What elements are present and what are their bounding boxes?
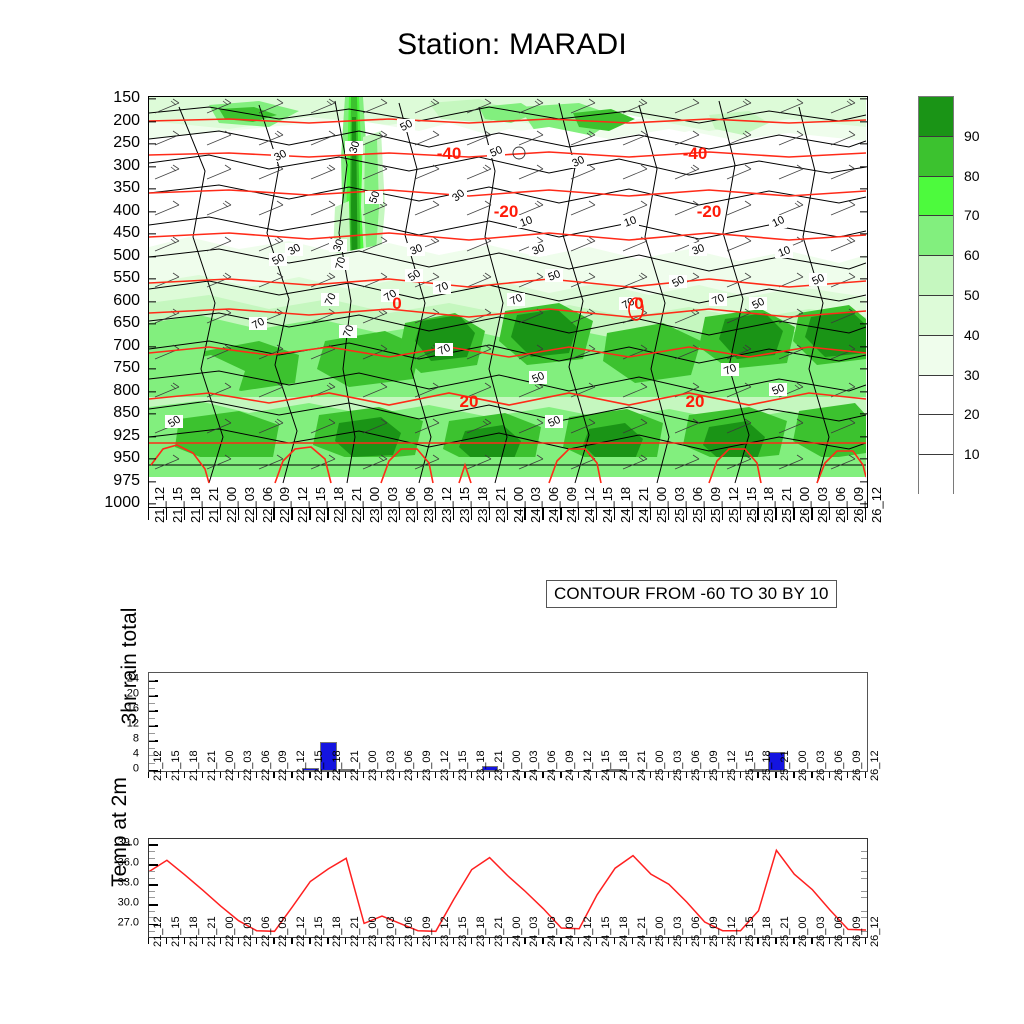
- pressure-tick-mark: [149, 481, 156, 482]
- rain-minor-tick: [149, 710, 155, 711]
- time-tick-label: 22_18: [332, 750, 343, 781]
- time-tick-label: 23_18: [476, 487, 489, 523]
- time-tick-label: 21_18: [189, 750, 200, 781]
- time-tick-label: 23_12: [440, 916, 451, 947]
- time-tick-mark: [793, 938, 794, 944]
- pressure-tick-mark: [860, 278, 867, 279]
- time-tick-label: 25_21: [780, 916, 791, 947]
- time-tick-label: 22_21: [350, 916, 361, 947]
- time-tick-mark: [722, 772, 723, 778]
- svg-text:20: 20: [686, 392, 705, 411]
- time-tick-mark: [865, 508, 866, 520]
- pressure-tick-mark: [149, 368, 156, 369]
- rain-minor-tick: [149, 680, 155, 681]
- time-tick-label: 25_06: [691, 916, 702, 947]
- time-tick-mark: [453, 508, 454, 520]
- time-tick-label: 24_21: [637, 750, 648, 781]
- time-tick-mark: [542, 938, 543, 944]
- time-tick-mark: [327, 938, 328, 944]
- time-tick-label: 25_00: [655, 916, 666, 947]
- pressure-tick-mark: [149, 143, 156, 144]
- time-tick-label: 21_21: [207, 750, 218, 781]
- time-tick-mark: [363, 772, 364, 778]
- pressure-tick-mark: [149, 278, 156, 279]
- pressure-tick-label: 925: [70, 428, 140, 444]
- colorbar[interactable]: [918, 96, 954, 494]
- time-tick-mark: [417, 508, 418, 520]
- colorbar-band[interactable]: [919, 336, 953, 376]
- pressure-tick-mark: [149, 121, 156, 122]
- time-tick-label: 26_03: [816, 750, 827, 781]
- time-tick-mark: [775, 938, 776, 944]
- time-tick-mark: [560, 938, 561, 944]
- time-tick-mark: [327, 508, 328, 520]
- time-tick-mark: [238, 938, 239, 944]
- time-tick-mark: [614, 772, 615, 778]
- colorbar-tick-label: 30: [964, 367, 980, 383]
- time-tick-mark: [471, 508, 472, 520]
- time-tick-mark: [524, 938, 525, 944]
- time-tick-label: 22_06: [261, 916, 272, 947]
- colorbar-tick-label: 20: [964, 406, 980, 422]
- colorbar-band[interactable]: [919, 296, 953, 336]
- time-tick-label: 25_00: [655, 750, 666, 781]
- time-tick-mark: [238, 508, 239, 520]
- time-tick-label: 25_15: [745, 750, 756, 781]
- time-tick-mark: [399, 508, 400, 520]
- time-tick-label: 24_09: [565, 916, 576, 947]
- temp-panel: Temp at 2m 21_1221_1521_1821_2122_0022_0…: [148, 838, 868, 938]
- time-tick-mark: [417, 938, 418, 944]
- time-tick-label: 26_03: [816, 487, 829, 523]
- time-tick-mark: [811, 938, 812, 944]
- time-tick-label: 22_03: [243, 750, 254, 781]
- temp-minor-tick: [149, 878, 155, 879]
- time-tick-label: 23_12: [440, 750, 451, 781]
- time-tick-label: 22_15: [314, 750, 325, 781]
- time-tick-label: 25_12: [727, 750, 738, 781]
- time-tick-mark: [793, 508, 794, 520]
- time-tick-label: 24_06: [547, 487, 560, 523]
- time-tick-mark: [614, 938, 615, 944]
- time-tick-label: 24_00: [512, 750, 523, 781]
- temp-tick-label: 33.0: [93, 878, 139, 889]
- time-tick-mark: [829, 772, 830, 778]
- time-tick-label: 24_09: [565, 487, 578, 523]
- temp-minor-tick: [149, 897, 155, 898]
- temp-minor-tick: [861, 878, 867, 879]
- time-tick-label: 24_03: [529, 487, 542, 523]
- time-tick-mark: [202, 508, 203, 520]
- svg-text:-20: -20: [494, 202, 519, 221]
- time-tick-label: 24_00: [512, 487, 525, 523]
- time-tick-mark: [811, 772, 812, 778]
- rain-minor-tick: [149, 703, 155, 704]
- time-tick-mark: [740, 772, 741, 778]
- pressure-tick-mark: [149, 256, 156, 257]
- time-tick-label: 24_09: [565, 750, 576, 781]
- time-tick-label: 26_12: [870, 487, 883, 523]
- pressure-tick-label: 550: [70, 270, 140, 286]
- cross-section-plot-area[interactable]: 30 30 50 50 50 30 30 10 10 10 30 30 30 3…: [148, 96, 868, 508]
- contour-legend-note: CONTOUR FROM -60 TO 30 BY 10: [546, 580, 837, 608]
- time-tick-label: 26_06: [834, 916, 845, 947]
- temp-minor-tick: [149, 911, 155, 912]
- time-tick-label: 23_18: [476, 916, 487, 947]
- temp-minor-tick: [861, 891, 867, 892]
- time-tick-mark: [309, 772, 310, 778]
- pressure-tick-label: 500: [70, 248, 140, 264]
- temp-tick-label: 36.0: [93, 858, 139, 869]
- time-tick-mark: [507, 938, 508, 944]
- time-tick-mark: [489, 508, 490, 520]
- time-tick-mark: [632, 508, 633, 520]
- pressure-tick-label: 150: [70, 90, 140, 106]
- time-tick-label: 23_03: [386, 487, 399, 523]
- time-tick-mark: [399, 938, 400, 944]
- time-tick-label: 21_21: [207, 916, 218, 947]
- time-tick-mark: [184, 772, 185, 778]
- time-tick-label: 22_03: [243, 487, 256, 523]
- time-tick-mark: [220, 508, 221, 520]
- time-tick-label: 26_12: [870, 916, 881, 947]
- time-tick-mark: [273, 772, 274, 778]
- temp-tick-label: 27.0: [93, 918, 139, 929]
- pressure-tick-mark: [860, 458, 867, 459]
- time-tick-mark: [524, 772, 525, 778]
- pressure-tick-label: 450: [70, 225, 140, 241]
- time-tick-mark: [220, 772, 221, 778]
- pressure-tick-label: 600: [70, 293, 140, 309]
- time-tick-label: 24_03: [529, 916, 540, 947]
- colorbar-tick-label: 80: [964, 168, 980, 184]
- time-tick-mark: [148, 508, 149, 520]
- time-tick-label: 22_21: [350, 750, 361, 781]
- time-tick-label: 22_15: [314, 916, 325, 947]
- time-tick-mark: [256, 772, 257, 778]
- time-tick-label: 21_21: [207, 487, 220, 523]
- time-tick-label: 23_00: [368, 916, 379, 947]
- pressure-tick-mark: [860, 368, 867, 369]
- time-tick-label: 23_21: [494, 487, 507, 523]
- time-tick-mark: [722, 508, 723, 520]
- time-tick-mark: [489, 772, 490, 778]
- time-tick-label: 25_03: [673, 916, 684, 947]
- pressure-tick-label: 700: [70, 338, 140, 354]
- time-tick-label: 24_21: [637, 487, 650, 523]
- pressure-tick-mark: [860, 211, 867, 212]
- time-tick-label: 25_18: [762, 916, 773, 947]
- time-tick-mark: [166, 938, 167, 944]
- time-tick-label: 22_09: [278, 750, 289, 781]
- pressure-tick-label: 800: [70, 383, 140, 399]
- time-tick-label: 24_06: [547, 750, 558, 781]
- colorbar-band[interactable]: [919, 137, 953, 177]
- pressure-tick-label: 975: [70, 473, 140, 489]
- time-tick-mark: [417, 772, 418, 778]
- time-tick-mark: [399, 772, 400, 778]
- time-tick-label: 23_00: [368, 487, 381, 523]
- temp-tick-mark: [149, 884, 158, 885]
- time-tick-mark: [256, 508, 257, 520]
- time-tick-mark: [847, 938, 848, 944]
- time-tick-mark: [740, 938, 741, 944]
- time-tick-mark: [453, 772, 454, 778]
- cross-section-graphic: 30 30 50 50 50 30 30 10 10 10 30 30 30 3…: [149, 97, 866, 506]
- temp-minor-tick: [861, 858, 867, 859]
- pressure-tick-label: 250: [70, 135, 140, 151]
- time-tick-label: 23_03: [386, 916, 397, 947]
- svg-text:0: 0: [392, 294, 401, 313]
- time-tick-mark: [256, 938, 257, 944]
- time-tick-mark: [345, 508, 346, 520]
- time-tick-label: 23_21: [494, 916, 505, 947]
- time-tick-label: 23_18: [476, 750, 487, 781]
- time-tick-label: 25_12: [727, 916, 738, 947]
- time-tick-mark: [596, 938, 597, 944]
- temp-minor-tick: [861, 871, 867, 872]
- temp-minor-tick: [861, 911, 867, 912]
- pressure-tick-mark: [860, 391, 867, 392]
- time-tick-label: 24_06: [547, 916, 558, 947]
- rain-minor-tick: [149, 718, 155, 719]
- time-tick-mark: [309, 938, 310, 944]
- time-tick-label: 26_06: [834, 487, 847, 523]
- rain-minor-tick: [149, 695, 155, 696]
- time-tick-label: 23_06: [404, 750, 415, 781]
- time-tick-mark: [793, 772, 794, 778]
- time-tick-label: 23_15: [458, 750, 469, 781]
- time-tick-label: 22_00: [225, 750, 236, 781]
- time-tick-label: 22_15: [314, 487, 327, 523]
- time-tick-label: 22_03: [243, 916, 254, 947]
- time-tick-label: 24_12: [583, 916, 594, 947]
- time-tick-mark: [327, 772, 328, 778]
- time-tick-mark: [775, 772, 776, 778]
- pressure-tick-label: 200: [70, 113, 140, 129]
- time-tick-mark: [704, 938, 705, 944]
- time-tick-label: 26_03: [816, 916, 827, 947]
- time-tick-label: 25_06: [691, 487, 704, 523]
- time-tick-mark: [202, 938, 203, 944]
- colorbar-band[interactable]: [919, 455, 953, 495]
- pressure-tick-mark: [860, 346, 867, 347]
- time-tick-mark: [507, 772, 508, 778]
- time-tick-label: 25_15: [745, 487, 758, 523]
- temp-tick-mark: [149, 864, 158, 865]
- pressure-tick-mark: [149, 346, 156, 347]
- time-tick-mark: [722, 938, 723, 944]
- pressure-tick-mark: [860, 301, 867, 302]
- temp-tick-mark: [149, 904, 158, 905]
- time-tick-label: 23_06: [404, 916, 415, 947]
- time-tick-mark: [829, 938, 830, 944]
- time-tick-mark: [686, 938, 687, 944]
- time-tick-label: 25_21: [780, 750, 791, 781]
- time-tick-label: 22_09: [278, 487, 291, 523]
- time-tick-mark: [453, 938, 454, 944]
- pressure-tick-label: 850: [70, 405, 140, 421]
- time-tick-mark: [381, 508, 382, 520]
- colorbar-band[interactable]: [919, 216, 953, 256]
- time-tick-label: 24_15: [601, 750, 612, 781]
- time-tick-label: 22_09: [278, 916, 289, 947]
- colorbar-tick-label: 50: [964, 287, 980, 303]
- temp-minor-tick: [149, 851, 155, 852]
- time-tick-label: 23_06: [404, 487, 417, 523]
- time-tick-mark: [650, 508, 651, 520]
- pressure-tick-mark: [860, 323, 867, 324]
- pressure-tick-mark: [860, 481, 867, 482]
- colorbar-band[interactable]: [919, 415, 953, 455]
- time-tick-label: 24_00: [512, 916, 523, 947]
- time-tick-label: 22_12: [296, 750, 307, 781]
- time-tick-label: 25_09: [709, 750, 720, 781]
- time-tick-label: 24_15: [601, 487, 614, 523]
- pressure-tick-mark: [860, 436, 867, 437]
- time-tick-label: 21_12: [153, 750, 164, 781]
- pressure-tick-label: 350: [70, 180, 140, 196]
- time-tick-label: 25_12: [727, 487, 740, 523]
- time-tick-mark: [489, 938, 490, 944]
- colorbar-tick-label: 70: [964, 207, 980, 223]
- time-tick-label: 23_00: [368, 750, 379, 781]
- svg-text:20: 20: [460, 392, 479, 411]
- time-tick-label: 23_15: [458, 487, 471, 523]
- time-tick-label: 21_18: [189, 487, 202, 523]
- pressure-tick-mark: [149, 98, 156, 99]
- colorbar-band[interactable]: [919, 177, 953, 217]
- time-tick-label: 25_18: [762, 750, 773, 781]
- time-tick-mark: [363, 508, 364, 520]
- rain-panel: 3hr rain total 21_1221_1521_1821_2122_00…: [148, 672, 868, 772]
- colorbar-tick-label: 90: [964, 128, 980, 144]
- time-tick-mark: [435, 938, 436, 944]
- time-tick-label: 23_15: [458, 916, 469, 947]
- time-tick-mark: [775, 508, 776, 520]
- time-tick-label: 25_06: [691, 750, 702, 781]
- time-tick-mark: [865, 938, 866, 944]
- colorbar-tick-label: 10: [964, 446, 980, 462]
- temp-minor-tick: [149, 858, 155, 859]
- time-tick-label: 26_09: [852, 916, 863, 947]
- time-tick-label: 24_18: [619, 750, 630, 781]
- time-tick-mark: [865, 772, 866, 778]
- time-tick-mark: [847, 508, 848, 520]
- time-tick-mark: [381, 772, 382, 778]
- time-tick-label: 21_12: [153, 487, 166, 523]
- time-tick-label: 26_12: [870, 750, 881, 781]
- time-tick-label: 26_00: [798, 487, 811, 523]
- time-tick-label: 25_03: [673, 487, 686, 523]
- time-tick-mark: [435, 508, 436, 520]
- time-tick-label: 24_18: [619, 916, 630, 947]
- time-tick-mark: [184, 508, 185, 520]
- rain-plot-area[interactable]: [148, 672, 868, 772]
- time-tick-mark: [650, 938, 651, 944]
- pressure-tick-label: 400: [70, 203, 140, 219]
- pressure-tick-mark: [860, 98, 867, 99]
- time-tick-mark: [704, 508, 705, 520]
- time-tick-mark: [542, 508, 543, 520]
- time-tick-mark: [471, 938, 472, 944]
- colorbar-tick-label: 60: [964, 247, 980, 263]
- time-tick-mark: [273, 508, 274, 520]
- time-tick-mark: [560, 508, 561, 520]
- time-tick-mark: [291, 508, 292, 520]
- time-tick-label: 24_12: [583, 750, 594, 781]
- time-tick-mark: [811, 508, 812, 520]
- time-tick-mark: [220, 938, 221, 944]
- time-tick-label: 21_15: [171, 487, 184, 523]
- time-tick-mark: [704, 772, 705, 778]
- rain-minor-tick: [149, 688, 155, 689]
- pressure-tick-mark: [860, 256, 867, 257]
- time-tick-mark: [560, 772, 561, 778]
- time-tick-mark: [686, 772, 687, 778]
- time-tick-mark: [507, 508, 508, 520]
- time-tick-mark: [578, 772, 579, 778]
- temp-minor-tick: [861, 897, 867, 898]
- time-tick-mark: [363, 938, 364, 944]
- time-tick-mark: [184, 938, 185, 944]
- svg-text:-40: -40: [683, 144, 708, 163]
- time-tick-label: 22_12: [296, 916, 307, 947]
- temp-minor-tick: [861, 851, 867, 852]
- time-tick-mark: [686, 508, 687, 520]
- time-tick-label: 22_06: [261, 487, 274, 523]
- pressure-tick-mark: [149, 458, 156, 459]
- time-tick-label: 22_00: [225, 487, 238, 523]
- time-tick-label: 26_06: [834, 750, 845, 781]
- temp-plot-area[interactable]: [148, 838, 868, 938]
- time-tick-label: 21_15: [171, 916, 182, 947]
- time-tick-label: 23_09: [422, 916, 433, 947]
- time-tick-mark: [596, 508, 597, 520]
- time-tick-mark: [542, 772, 543, 778]
- pressure-tick-mark: [149, 391, 156, 392]
- time-tick-mark: [757, 772, 758, 778]
- time-tick-label: 25_15: [745, 916, 756, 947]
- time-tick-mark: [309, 508, 310, 520]
- time-tick-label: 25_03: [673, 750, 684, 781]
- time-tick-label: 26_00: [798, 750, 809, 781]
- time-tick-label: 24_18: [619, 487, 632, 523]
- colorbar-band[interactable]: [919, 376, 953, 416]
- time-tick-label: 21_15: [171, 750, 182, 781]
- time-tick-mark: [578, 508, 579, 520]
- colorbar-band[interactable]: [919, 256, 953, 296]
- pressure-tick-mark: [860, 143, 867, 144]
- time-tick-label: 25_00: [655, 487, 668, 523]
- pressure-tick-mark: [860, 188, 867, 189]
- colorbar-band[interactable]: [919, 97, 953, 137]
- time-tick-mark: [381, 938, 382, 944]
- pressure-tick-mark: [860, 166, 867, 167]
- pressure-tick-mark: [149, 211, 156, 212]
- time-tick-mark: [757, 508, 758, 520]
- time-tick-mark: [291, 772, 292, 778]
- pressure-tick-mark: [149, 413, 156, 414]
- time-tick-label: 22_18: [332, 916, 343, 947]
- time-tick-label: 22_21: [350, 487, 363, 523]
- time-tick-mark: [740, 508, 741, 520]
- time-tick-label: 25_21: [780, 487, 793, 523]
- time-tick-mark: [273, 938, 274, 944]
- rain-minor-tick: [149, 725, 155, 726]
- time-tick-label: 24_15: [601, 916, 612, 947]
- temp-minor-tick: [149, 891, 155, 892]
